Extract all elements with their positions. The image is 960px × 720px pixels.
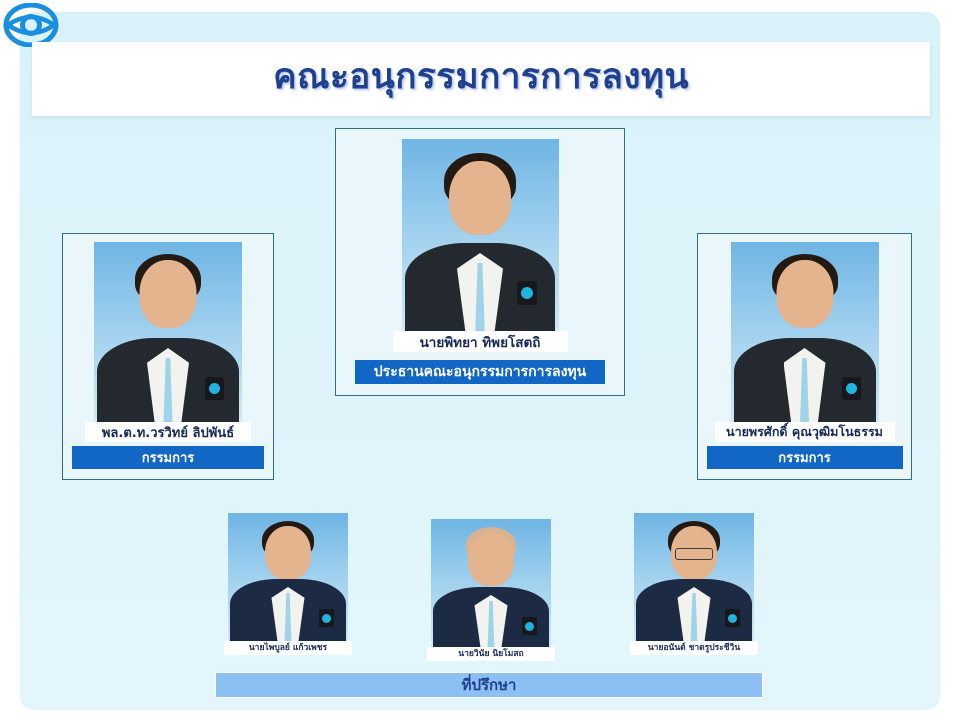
- advisor-card-1[interactable]: นายไพบูลย์ แก้วเพชร: [221, 513, 355, 665]
- member-card-right[interactable]: นายพรศักดิ์ คุณวุฒิมโนธรรม กรรมการ: [697, 233, 912, 480]
- chairman-name: นายพิทยา ทิพยโสตถิ: [393, 331, 568, 352]
- advisor-card-3[interactable]: นายอนันต์ ชาตรูประชีวิน: [627, 513, 761, 665]
- advisor-2-photo: [431, 519, 551, 647]
- advisor-role-bar: ที่ปรึกษา: [215, 672, 763, 698]
- eye-emblem-icon: [2, 3, 60, 47]
- member-left-role: กรรมการ: [72, 446, 264, 469]
- advisor-group: นายไพบูลย์ แก้วเพชร นายวินัย นิยโมสถ: [215, 505, 765, 705]
- chairman-role: ประธานคณะอนุกรรมการการลงทุน: [355, 360, 605, 384]
- member-right-photo: [731, 242, 879, 422]
- title-panel: คณะอนุกรรมการการลงทุน: [32, 42, 930, 116]
- advisor-card-2[interactable]: นายวินัย นิยโมสถ: [424, 519, 558, 665]
- member-left-name: พล.ต.ท.วรวิทย์ ลิปพันธ์: [85, 422, 251, 442]
- chairman-card[interactable]: นายพิทยา ทิพยโสตถิ ประธานคณะอนุกรรมการกา…: [335, 128, 625, 396]
- member-left-photo: [94, 242, 242, 422]
- chairman-photo: [402, 139, 559, 331]
- advisor-2-name: นายวินัย นิยโมสถ: [427, 647, 555, 661]
- org-chart-page: คณะอนุกรรมการการลงทุน นายพิทยา ทิพยโสตถิ…: [0, 0, 960, 720]
- member-right-role: กรรมการ: [707, 446, 903, 469]
- advisor-1-name: นายไพบูลย์ แก้วเพชร: [224, 641, 352, 655]
- advisor-3-photo: [634, 513, 754, 641]
- glasses-icon: [675, 548, 713, 560]
- page-title: คณะอนุกรรมการการลงทุน: [32, 42, 930, 116]
- advisor-1-photo: [228, 513, 348, 641]
- advisor-3-name: นายอนันต์ ชาตรูประชีวิน: [630, 641, 758, 655]
- member-card-left[interactable]: พล.ต.ท.วรวิทย์ ลิปพันธ์ กรรมการ: [62, 233, 274, 480]
- member-right-name: นายพรศักดิ์ คุณวุฒิมโนธรรม: [715, 422, 895, 442]
